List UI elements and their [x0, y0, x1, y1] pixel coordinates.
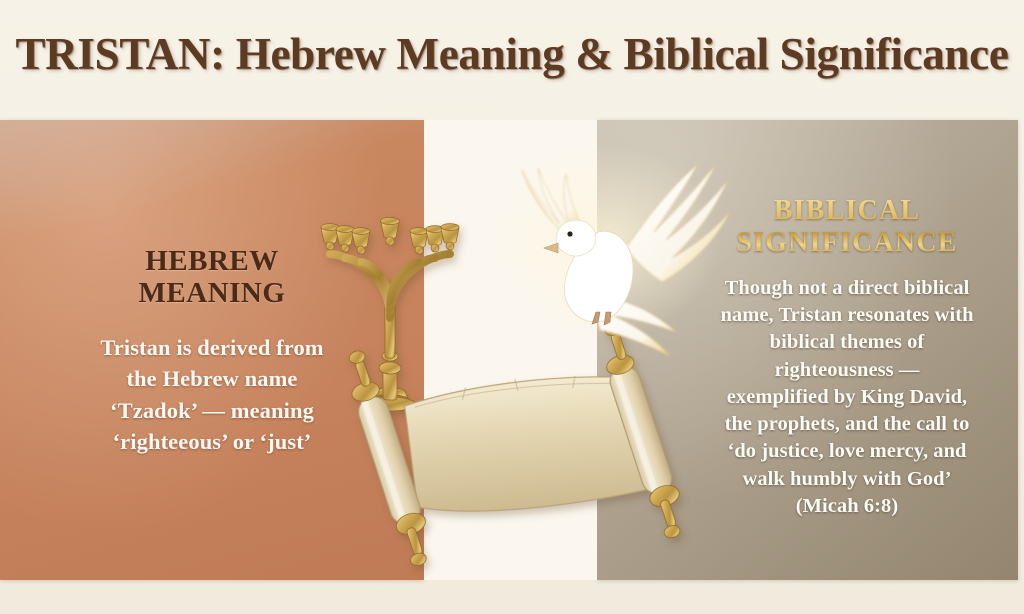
hebrew-meaning-body-line: ‘Tzadok’ — meaning: [0, 395, 424, 427]
panel-biblical-significance: BIBLICAL SIGNIFICANCE Though not a direc…: [597, 120, 1018, 580]
biblical-significance-heading-line1: BIBLICAL: [687, 195, 1007, 227]
biblical-significance-body-line: name, Tristan resonates with: [687, 302, 1007, 329]
panel-hebrew-meaning: HEBREW MEANING Tristan is derived from t…: [0, 120, 424, 580]
biblical-significance-body-line: Though not a direct biblical: [687, 275, 1007, 302]
hebrew-meaning-text-block: HEBREW MEANING Tristan is derived from t…: [0, 245, 424, 458]
biblical-significance-body: Though not a direct biblical name, Trist…: [687, 275, 1007, 520]
hebrew-meaning-heading-line1: HEBREW: [0, 245, 424, 277]
hebrew-meaning-body-line: ‘righteeous’ or ‘just’: [0, 426, 424, 458]
hebrew-meaning-heading-line2: MEANING: [0, 277, 424, 309]
biblical-significance-body-line: the prophets, and the call to: [687, 411, 1007, 438]
hebrew-meaning-body-line: Tristan is derived from: [0, 332, 424, 364]
biblical-significance-body-line: ‘do justice, love mercy, and: [687, 438, 1007, 465]
biblical-significance-body-line: walk humbly with God’: [687, 466, 1007, 493]
biblical-significance-citation: (Micah 6:8): [687, 493, 1007, 520]
biblical-significance-heading-line2: SIGNIFICANCE: [687, 227, 1007, 259]
hebrew-meaning-body-line: the Hebrew name: [0, 363, 424, 395]
page-title: TRISTAN: Hebrew Meaning & Biblical Signi…: [0, 28, 1024, 80]
hebrew-meaning-heading: HEBREW MEANING: [0, 245, 424, 310]
biblical-significance-heading: BIBLICAL SIGNIFICANCE: [687, 195, 1007, 259]
poster-canvas: TRISTAN: Hebrew Meaning & Biblical Signi…: [0, 0, 1024, 614]
biblical-significance-body-line: biblical themes of: [687, 329, 1007, 356]
biblical-significance-body-line: righteousness —: [687, 357, 1007, 384]
biblical-significance-body-line: exemplified by King David,: [687, 384, 1007, 411]
panel-gap-strip: [424, 120, 597, 580]
biblical-significance-text-block: BIBLICAL SIGNIFICANCE Though not a direc…: [687, 195, 1007, 520]
hebrew-meaning-body: Tristan is derived from the Hebrew name …: [0, 332, 424, 458]
